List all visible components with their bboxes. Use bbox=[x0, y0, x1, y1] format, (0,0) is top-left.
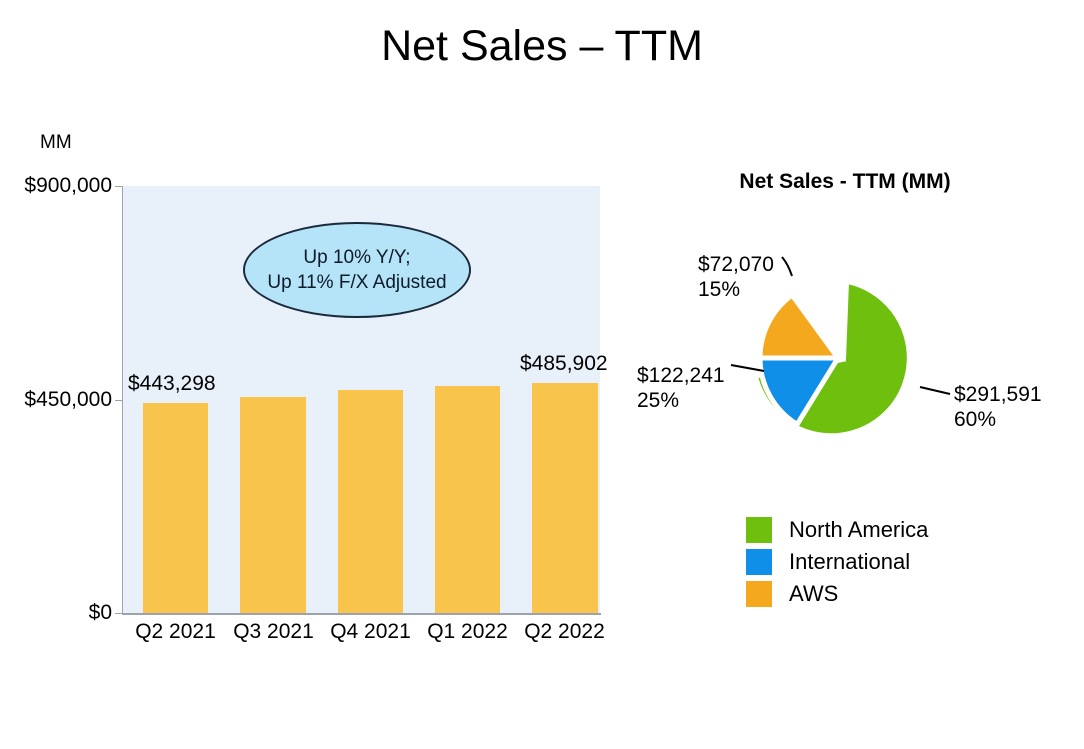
pie-label-north-america-percent: 60% bbox=[954, 407, 1042, 432]
pie-label-aws-value: $72,070 bbox=[698, 252, 774, 277]
bar-q2-2022[interactable] bbox=[532, 383, 598, 613]
bar-value-label-q2-2021: $443,298 bbox=[128, 372, 216, 396]
pie-slice-aws[interactable] bbox=[760, 295, 838, 358]
y-tick-label-450000: $450,000 bbox=[24, 388, 112, 412]
x-tick-label-q4-2021: Q4 2021 bbox=[321, 620, 420, 644]
pie-label-aws: $72,070 15% bbox=[698, 252, 774, 302]
pie-chart-legend: North America International AWS bbox=[746, 514, 928, 610]
legend-swatch-north-america-icon bbox=[746, 517, 772, 543]
legend-label-aws: AWS bbox=[789, 581, 838, 607]
x-tick-label-q1-2022: Q1 2022 bbox=[418, 620, 517, 644]
bar-q4-2021[interactable] bbox=[338, 390, 403, 613]
bar-q1-2022[interactable] bbox=[435, 386, 500, 613]
legend-item-international[interactable]: International bbox=[746, 546, 928, 578]
bar-chart: MM $900,000 $450,000 $0 $443,298 $485,90… bbox=[0, 0, 640, 680]
y-tick-mark-450000 bbox=[115, 400, 122, 401]
bar-q3-2021[interactable] bbox=[240, 397, 306, 613]
x-tick-label-q2-2021: Q2 2021 bbox=[126, 620, 225, 644]
bar-q2-2021[interactable] bbox=[143, 403, 208, 613]
pie-label-aws-percent: 15% bbox=[698, 277, 774, 302]
y-tick-label-900000: $900,000 bbox=[24, 174, 112, 198]
legend-swatch-international-icon bbox=[746, 549, 772, 575]
pie-chart-graphic bbox=[630, 160, 1084, 500]
pie-chart: Net Sales - TTM (MM) $72,070 15% $122,24… bbox=[630, 160, 1084, 640]
y-tick-mark-900000 bbox=[115, 186, 122, 187]
legend-label-north-america: North America bbox=[789, 517, 928, 543]
callout-line-1: Up 10% Y/Y; bbox=[303, 245, 410, 270]
x-tick-label-q3-2021: Q3 2021 bbox=[224, 620, 323, 644]
callout-bubble: Up 10% Y/Y; Up 11% F/X Adjusted bbox=[243, 222, 471, 318]
legend-label-international: International bbox=[789, 549, 910, 575]
callout-line-2: Up 11% F/X Adjusted bbox=[267, 270, 446, 295]
x-axis-line bbox=[122, 613, 601, 615]
leader-line-north-america bbox=[920, 387, 950, 394]
bar-value-label-q2-2022: $485,902 bbox=[520, 352, 608, 376]
x-tick-label-q2-2022: Q2 2022 bbox=[515, 620, 614, 644]
leader-line-aws bbox=[782, 257, 792, 276]
legend-item-aws[interactable]: AWS bbox=[746, 578, 928, 610]
y-tick-mark-0 bbox=[115, 613, 122, 614]
legend-swatch-aws-icon bbox=[746, 581, 772, 607]
pie-label-north-america-value: $291,591 bbox=[954, 382, 1042, 407]
pie-label-international-value: $122,241 bbox=[637, 363, 725, 388]
y-tick-label-0: $0 bbox=[89, 601, 112, 625]
y-axis-tick-labels: $900,000 $450,000 $0 bbox=[0, 0, 112, 680]
pie-label-north-america: $291,591 60% bbox=[954, 382, 1042, 432]
y-axis-line bbox=[122, 186, 123, 614]
pie-label-international-percent: 25% bbox=[637, 388, 725, 413]
pie-label-international: $122,241 25% bbox=[637, 363, 725, 413]
legend-item-north-america[interactable]: North America bbox=[746, 514, 928, 546]
